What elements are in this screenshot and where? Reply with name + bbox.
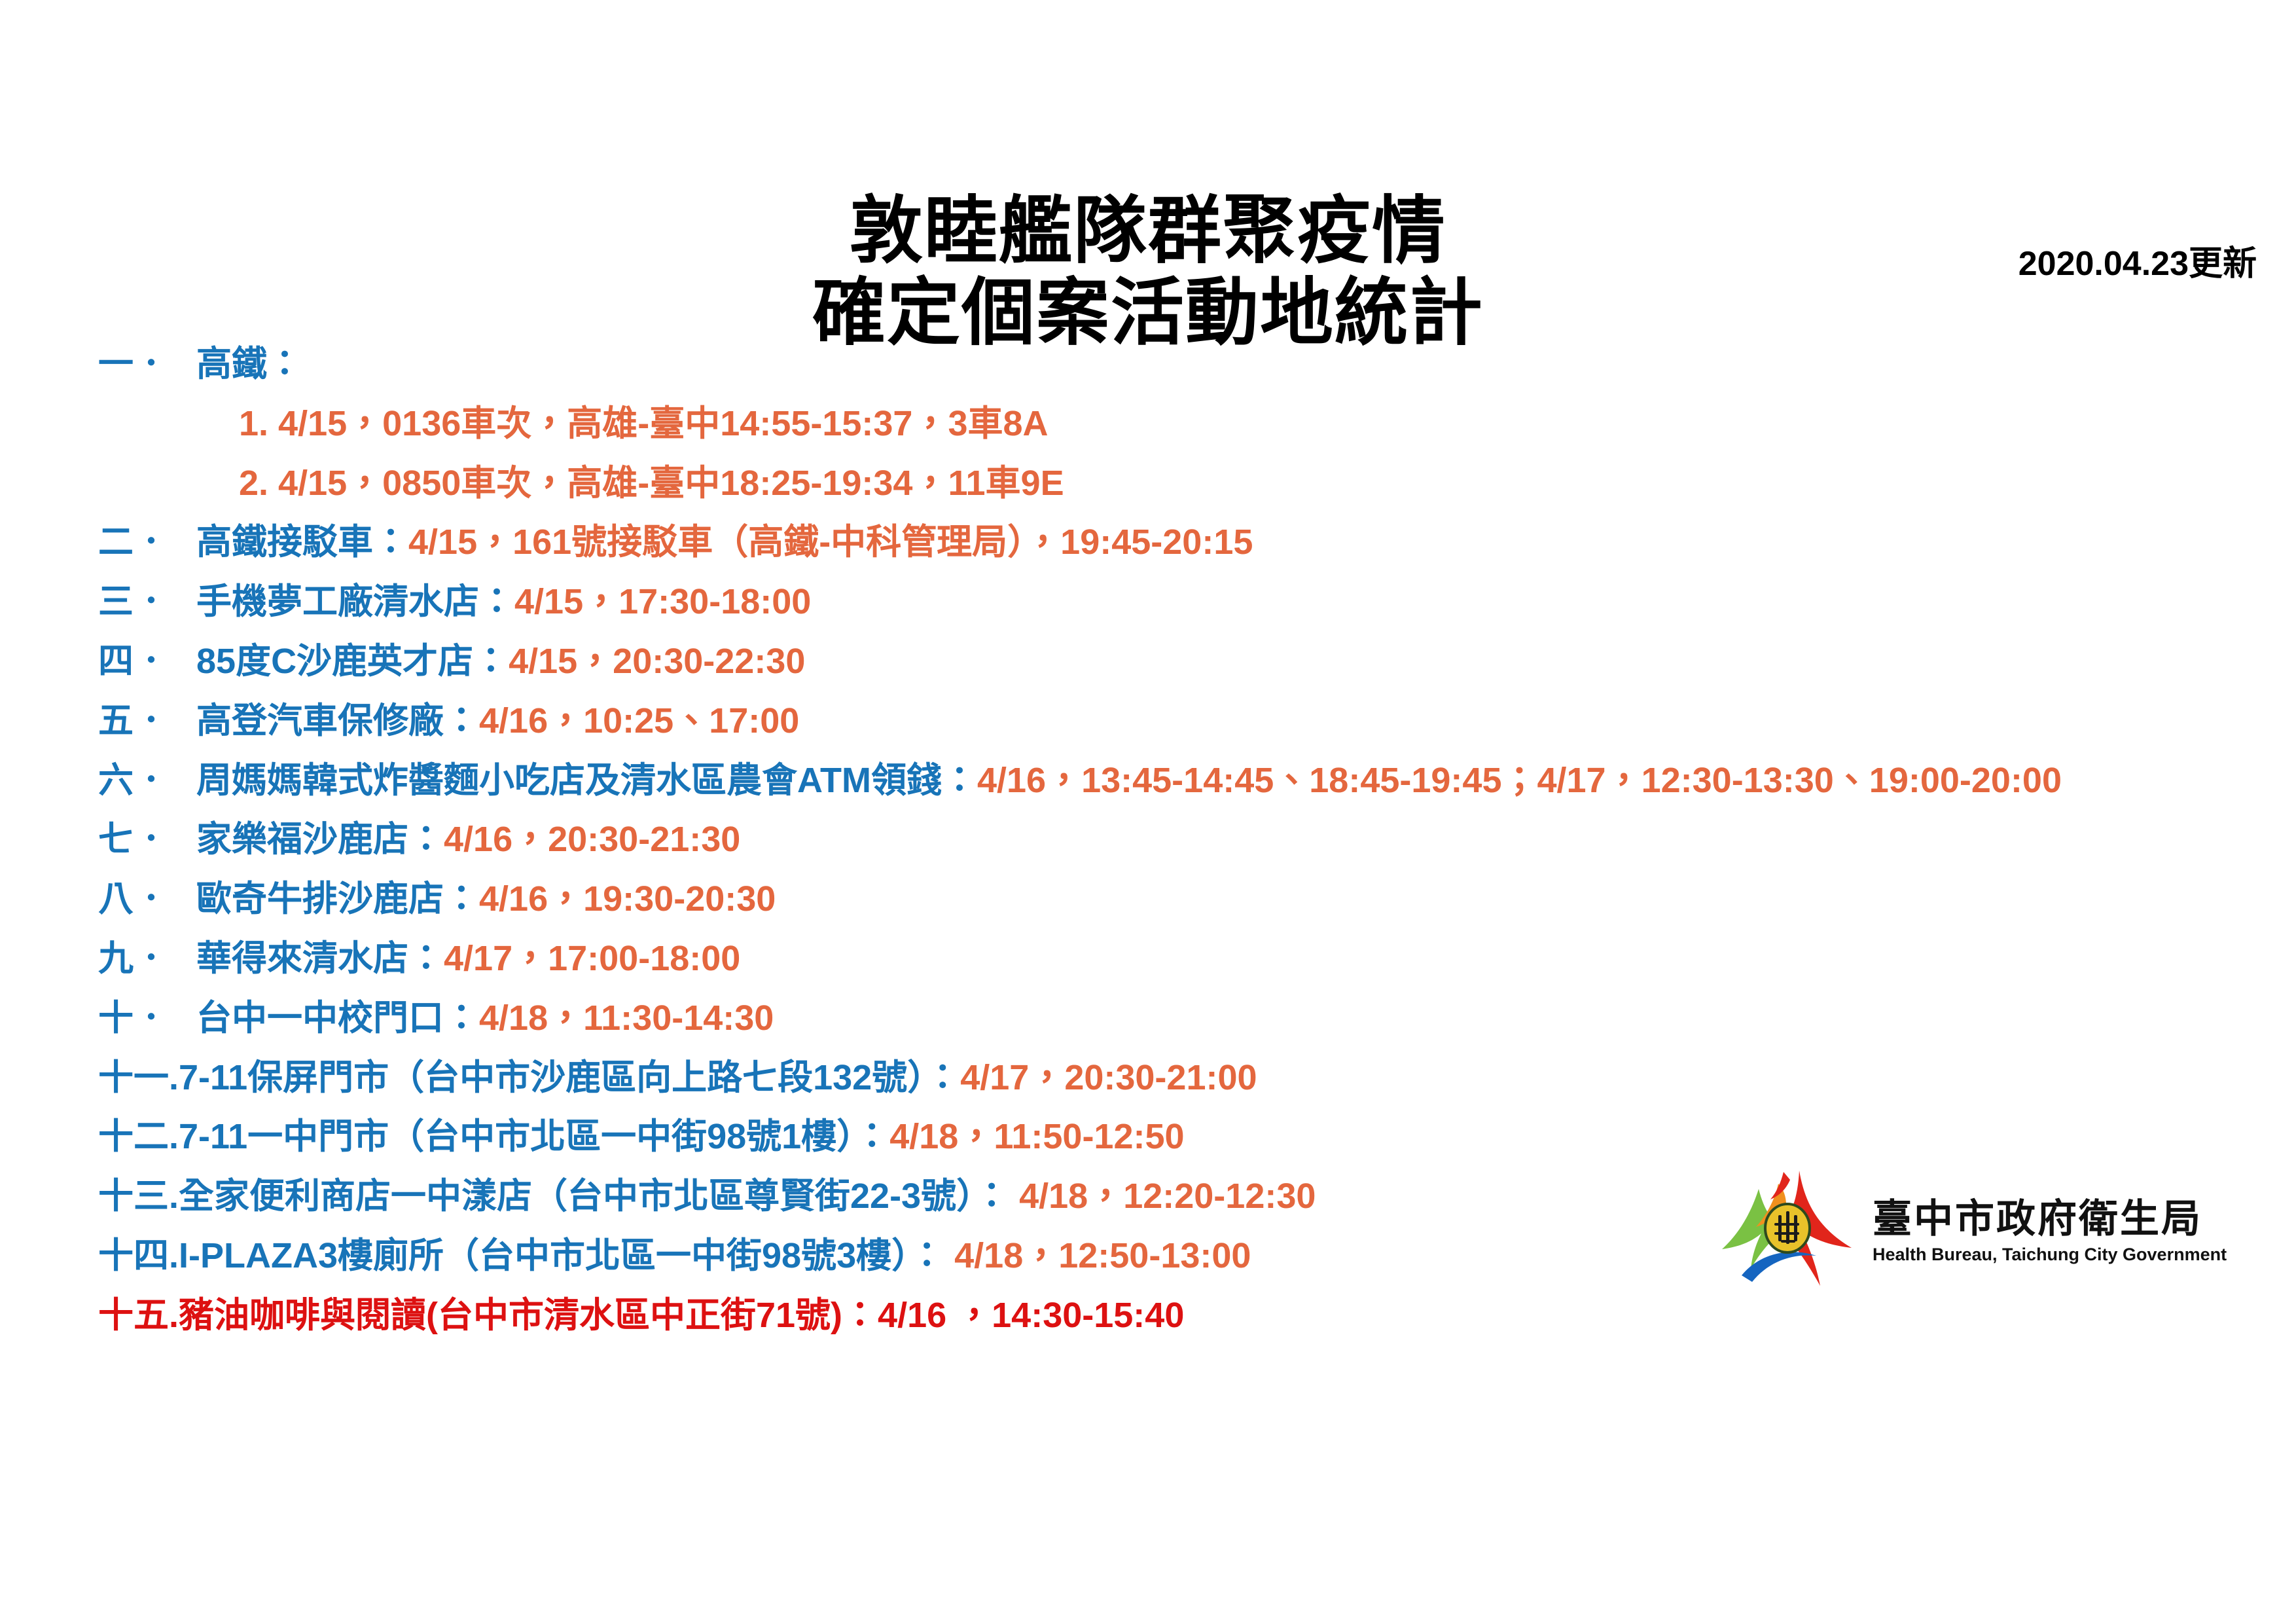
list-item-marker: 八． [98,878,196,921]
list-item-place: 高登汽車保修廠： [196,701,479,740]
list-item-time: 4/18，12:50-13:00 [944,1236,1251,1275]
logo-name-chinese: 臺中市政府衛生局 [1873,1197,2268,1241]
list-item-marker: 二． [98,521,196,564]
list-item-marker: 十二. [98,1116,179,1158]
list-item-marker: 四． [98,640,196,683]
list-item-time: 4/16，13:45-14:45、18:45-19:45；4/17，12:30-… [977,761,2062,800]
list-item-marker: 五． [98,700,196,742]
update-date-stamp: 2020.04.23更新 [2018,236,2257,285]
list-item-place: 華得來清水店： [196,939,444,978]
list-item-place: 7-11保屏門市（台中市沙鹿區向上路七段132號）： [179,1058,960,1097]
list-item: 八． 歐奇牛排沙鹿店：4/16，19:30-20:30 [98,878,2271,921]
list-item-time: 4/18，11:50-12:50 [889,1117,1184,1156]
list-item-time: 4/15，17:30-18:00 [514,582,811,621]
poster-page: 敦睦艦隊群聚疫情 確定個案活動地統計 2020.04.23更新 一． 高鐵： 1… [0,0,2296,1623]
list-subitem: 1. 4/15，0136車次，高雄-臺中14:55-15:37，3車8A [239,403,2271,445]
title-line-1: 敦睦艦隊群聚疫情 [0,190,2296,272]
list-item-place: 高鐵接駁車： [196,522,408,562]
list-item-time: 4/16 ，14:30-15:40 [878,1296,1184,1335]
list-item-place: 7-11一中門市（台中市北區一中街98號1樓）： [179,1117,889,1156]
list-item-marker: 九． [98,938,196,980]
list-item-time: 4/16，20:30-21:30 [444,820,740,859]
list-item-place: 手機夢工廠清水店： [196,582,514,621]
list-item: 十． 台中一中校門口：4/18，11:30-14:30 [98,997,2271,1040]
list-item-place: I-PLAZA3樓廁所（台中市北區一中街98號3樓）： [179,1236,944,1275]
list-item: 九． 華得來清水店：4/17，17:00-18:00 [98,938,2271,980]
list-item: 五． 高登汽車保修廠：4/16，10:25、17:00 [98,700,2271,742]
list-subitem: 2. 4/15，0850車次，高雄-臺中18:25-19:34，11車9E [239,462,2271,505]
list-item-place: 全家便利商店一中漾店（台中市北區尊賢街22-3號）： [179,1176,1009,1216]
list-item-place: 台中一中校門口： [196,998,479,1038]
list-item-marker: 十一. [98,1057,179,1099]
taichung-emblem-icon [1718,1164,1856,1298]
list-item-place: 周媽媽韓式炸醬麵小吃店及清水區農會ATM領錢： [196,761,977,800]
list-item-place: 家樂福沙鹿店： [196,820,444,859]
list-item-marker: 十五. [98,1294,179,1337]
list-item-place: 歐奇牛排沙鹿店： [196,879,479,919]
list-item-place: 豬油咖啡與閱讀(台中市清水區中正街71號)： [179,1296,878,1335]
list-item-time: 4/16，10:25、17:00 [479,701,799,740]
list-item-time: 4/15，20:30-22:30 [509,642,805,681]
list-item: 二． 高鐵接駁車：4/15，161號接駁車（高鐵-中科管理局），19:45-20… [98,521,2271,564]
list-item: 十二. 7-11一中門市（台中市北區一中街98號1樓）：4/18，11:50-1… [98,1116,2271,1158]
health-bureau-logo: 臺中市政府衛生局 Health Bureau, Taichung City Go… [1718,1156,2268,1306]
list-item-time: 4/16，19:30-20:30 [479,879,776,919]
logo-text-block: 臺中市政府衛生局 Health Bureau, Taichung City Go… [1873,1197,2268,1265]
list-item-time: 4/17，20:30-21:00 [960,1058,1257,1097]
list-item-marker: 十四. [98,1235,179,1277]
list-item-marker: 三． [98,581,196,623]
list-item: 三． 手機夢工廠清水店：4/15，17:30-18:00 [98,581,2271,623]
title-line-2: 確定個案活動地統計 [0,272,2296,354]
list-item-time: 4/15，161號接駁車（高鐵-中科管理局），19:45-20:15 [408,522,1253,562]
list-item-time: 4/18，11:30-14:30 [479,998,774,1038]
list-item-marker: 六． [98,759,196,802]
list-item: 四． 85度C沙鹿英才店：4/15，20:30-22:30 [98,640,2271,683]
list-item-place: 高鐵： [196,344,302,384]
logo-name-english: Health Bureau, Taichung City Government [1873,1245,2268,1265]
list-item-marker: 十． [98,997,196,1040]
list-item: 六． 周媽媽韓式炸醬麵小吃店及清水區農會ATM領錢：4/16，13:45-14:… [98,759,2271,802]
list-item-time: 4/17，17:00-18:00 [444,939,740,978]
page-title: 敦睦艦隊群聚疫情 確定個案活動地統計 [0,190,2296,354]
list-item-marker: 十三. [98,1175,179,1218]
list-item: 七． 家樂福沙鹿店：4/16，20:30-21:30 [98,818,2271,861]
list-item-marker: 一． [98,343,196,386]
list-item-time: 4/18，12:20-12:30 [1009,1176,1316,1216]
list-item-place: 85度C沙鹿英才店： [196,642,509,681]
list-item-marker: 七． [98,818,196,861]
list-item: 十一. 7-11保屏門市（台中市沙鹿區向上路七段132號）：4/17，20:30… [98,1057,2271,1099]
list-item: 一． 高鐵： [98,343,2271,386]
